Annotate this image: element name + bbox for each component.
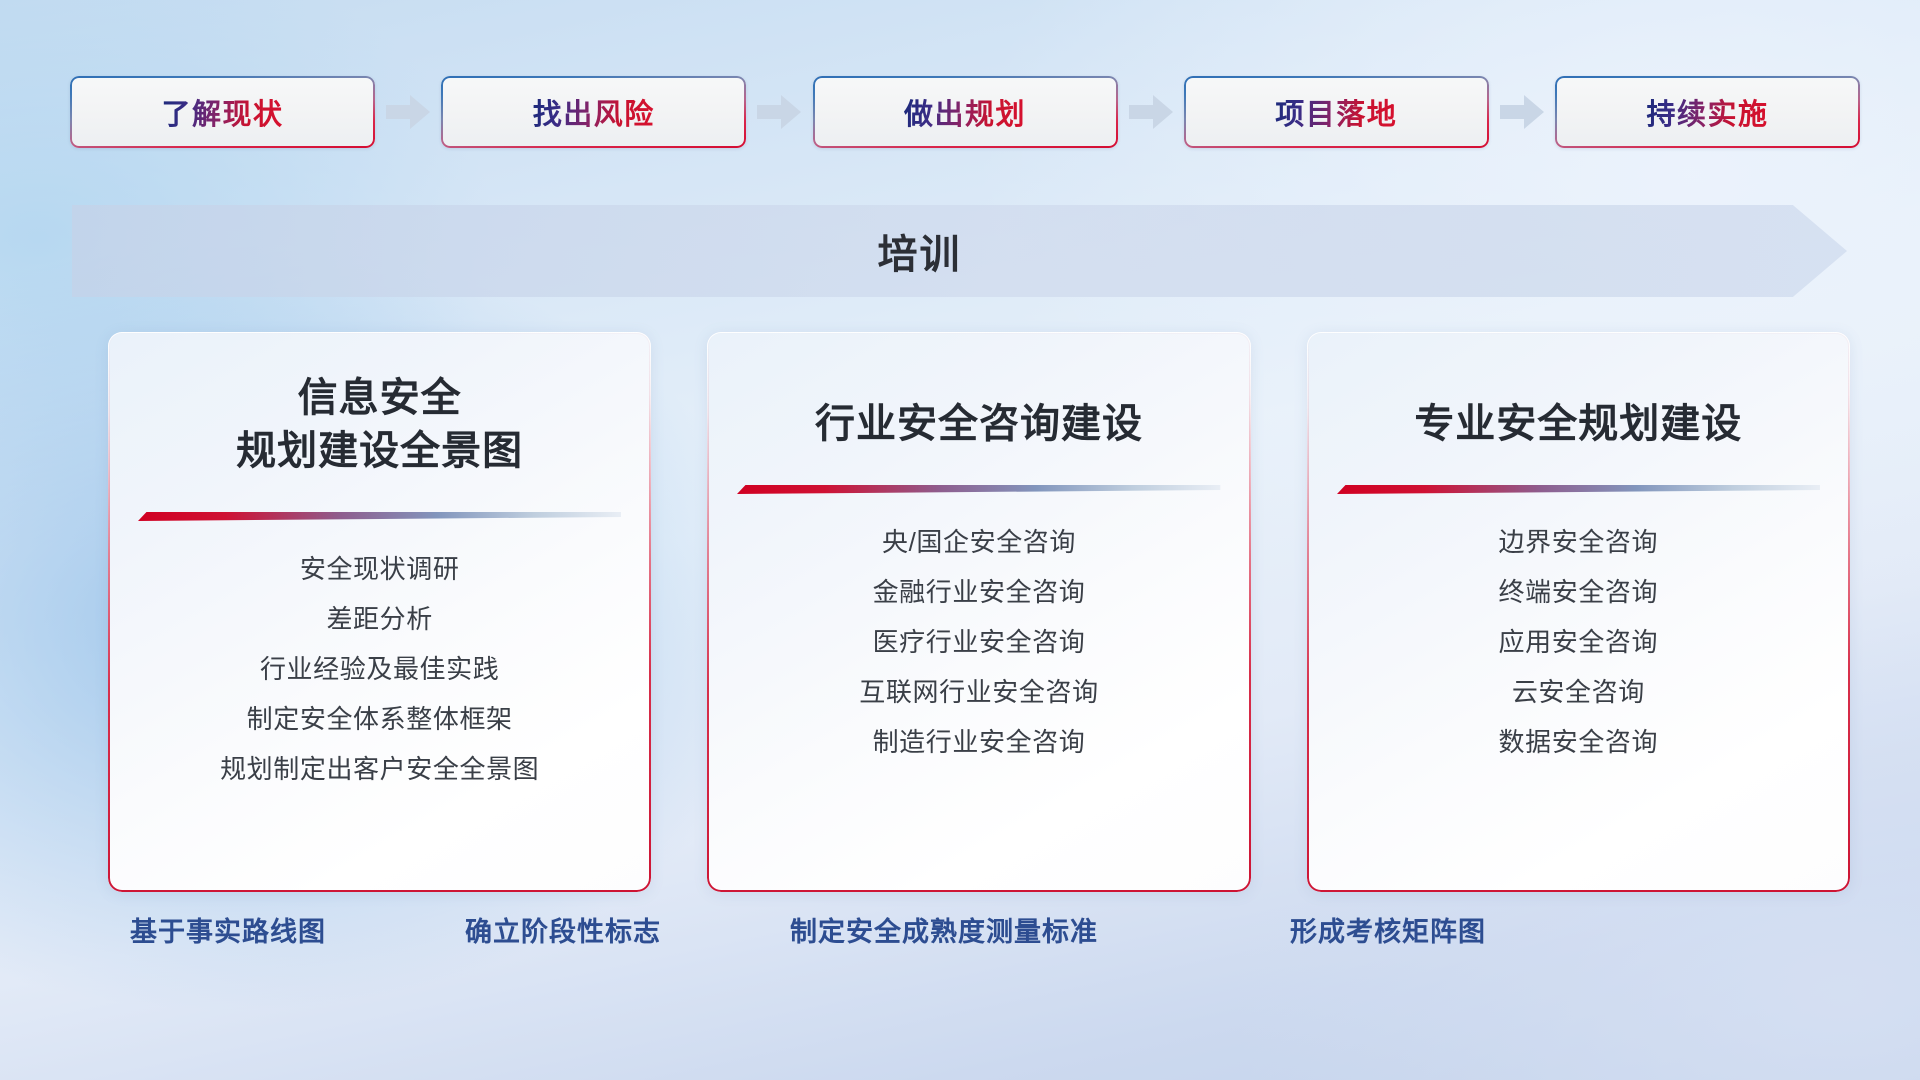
process-step-1[interactable]: 了解现状 xyxy=(70,76,375,148)
list-item: 终端安全咨询 xyxy=(1499,573,1659,612)
list-item: 规划制定出客户安全全景图 xyxy=(220,750,539,789)
card-professional-security-planning[interactable]: 专业安全规划建设 边界安全咨询 终端安全咨询 xyxy=(1307,332,1850,892)
list-item: 互联网行业安全咨询 xyxy=(859,673,1098,712)
footer-label-matrix: 形成考核矩阵图 xyxy=(1290,910,1486,949)
process-step-row: 了解现状 找出风险 做出规划 项目落地 持续实施 xyxy=(70,76,1860,148)
process-arrow-4 xyxy=(1489,95,1555,129)
card-item-list: 安全现状调研 差距分析 行业经验及最佳实践 制定安全体系整体框架 规划制定出客户… xyxy=(220,550,539,789)
process-arrow-2 xyxy=(746,95,812,129)
list-item: 医疗行业安全咨询 xyxy=(873,623,1086,662)
process-step-label: 了解现状 xyxy=(161,91,283,133)
footer-label-row: 基于事实路线图 确立阶段性标志 制定安全成熟度测量标准 形成考核矩阵图 xyxy=(0,910,1920,970)
process-step-2[interactable]: 找出风险 xyxy=(441,76,746,148)
process-arrow-1 xyxy=(375,95,441,129)
footer-label-roadmap: 基于事实路线图 xyxy=(130,910,326,949)
card-item-list: 央/国企安全咨询 金融行业安全咨询 医疗行业安全咨询 互联网行业安全咨询 制造行… xyxy=(859,523,1098,762)
card-title: 行业安全咨询建设 xyxy=(815,398,1143,451)
process-step-5[interactable]: 持续实施 xyxy=(1555,76,1860,148)
list-item: 制定安全体系整体框架 xyxy=(247,700,513,739)
process-arrow-3 xyxy=(1118,95,1184,129)
list-item: 金融行业安全咨询 xyxy=(873,573,1086,612)
training-banner: 培训 xyxy=(72,205,1847,297)
card-title: 专业安全规划建设 xyxy=(1414,398,1742,451)
card-divider xyxy=(138,508,621,524)
process-step-label: 做出规划 xyxy=(904,91,1026,133)
arrow-right-icon xyxy=(1129,95,1173,129)
arrow-right-icon xyxy=(1500,95,1544,129)
list-item: 安全现状调研 xyxy=(300,550,460,589)
footer-label-milestone: 确立阶段性标志 xyxy=(465,910,661,949)
list-item: 央/国企安全咨询 xyxy=(882,523,1076,562)
footer-label-maturity: 制定安全成熟度测量标准 xyxy=(790,910,1098,949)
list-item: 云安全咨询 xyxy=(1512,673,1645,712)
process-step-4[interactable]: 项目落地 xyxy=(1184,76,1489,148)
card-title-line: 行业安全咨询建设 xyxy=(815,398,1143,451)
arrow-right-icon xyxy=(757,95,801,129)
banner-title: 培训 xyxy=(72,205,1847,297)
gradient-rule-icon xyxy=(138,508,621,524)
card-title-line: 信息安全 xyxy=(236,372,523,425)
process-step-label: 持续实施 xyxy=(1646,91,1768,133)
card-industry-security-consulting[interactable]: 行业安全咨询建设 央/国企安全咨询 金融行业安全咨询 xyxy=(707,332,1250,892)
arrow-right-icon xyxy=(386,95,430,129)
card-divider xyxy=(737,481,1220,497)
gradient-rule-icon xyxy=(737,481,1220,497)
list-item: 应用安全咨询 xyxy=(1499,623,1659,662)
card-title-line: 专业安全规划建设 xyxy=(1414,398,1742,451)
list-item: 制造行业安全咨询 xyxy=(873,723,1086,762)
list-item: 边界安全咨询 xyxy=(1499,523,1659,562)
card-title: 信息安全 规划建设全景图 xyxy=(236,372,523,478)
card-info-security-blueprint[interactable]: 信息安全 规划建设全景图 安全现状调研 差 xyxy=(108,332,651,892)
card-group: 信息安全 规划建设全景图 安全现状调研 差 xyxy=(108,332,1850,892)
gradient-rule-icon xyxy=(1337,481,1820,497)
list-item: 数据安全咨询 xyxy=(1499,723,1659,762)
process-step-3[interactable]: 做出规划 xyxy=(813,76,1118,148)
list-item: 差距分析 xyxy=(326,600,432,639)
list-item: 行业经验及最佳实践 xyxy=(260,650,499,689)
process-step-label: 找出风险 xyxy=(533,91,655,133)
card-item-list: 边界安全咨询 终端安全咨询 应用安全咨询 云安全咨询 数据安全咨询 xyxy=(1499,523,1659,762)
process-step-label: 项目落地 xyxy=(1275,91,1397,133)
card-title-line: 规划建设全景图 xyxy=(236,425,523,478)
card-divider xyxy=(1337,481,1820,497)
